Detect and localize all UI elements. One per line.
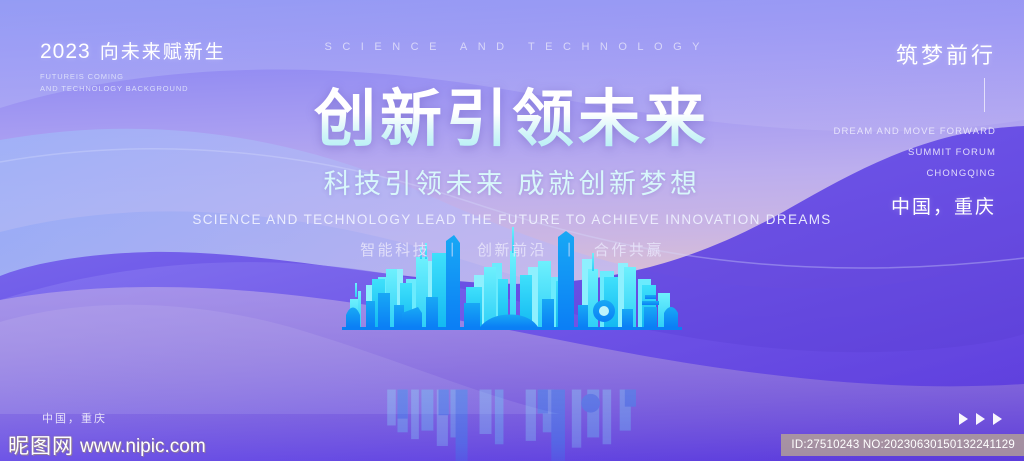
image-id-bar: ID:27510243 NO:20230630150132241129 (781, 434, 1024, 456)
main-content-block: 创新引领未来 科技引领未来 成就创新梦想 SCIENCE AND TECHNOL… (0, 0, 1024, 260)
poster-canvas: 2023向未来赋新生 FUTUREIS COMING AND TECHNOLOG… (0, 0, 1024, 461)
main-english-line: SCIENCE AND TECHNOLOGY LEAD THE FUTURE T… (0, 212, 1024, 227)
watermark-url-text: www.nipic.com (80, 437, 206, 456)
chevron-right-icon-3 (993, 413, 1002, 425)
tag-separator-1: 丨 (445, 242, 463, 259)
tagline-row: 智能科技 丨 创新前沿 丨 合作共赢 (0, 239, 1024, 260)
tag-item-3: 合作共赢 (594, 242, 664, 259)
tag-item-2: 创新前沿 (477, 242, 547, 259)
tag-separator-2: 丨 (562, 242, 580, 259)
main-title: 创新引领未来 (0, 86, 1024, 153)
chevron-right-icon-1 (959, 413, 968, 425)
bottom-location-cn: 中国，重庆 (42, 410, 107, 426)
watermark: 昵图网 www.nipic.com (8, 436, 206, 457)
chevron-right-icon-2 (976, 413, 985, 425)
watermark-logo-text: 昵图网 (8, 436, 74, 457)
main-subtitle: 科技引领未来 成就创新梦想 (0, 162, 1024, 201)
tag-item-1: 智能科技 (360, 242, 430, 259)
arrow-indicator-group (959, 413, 1002, 425)
